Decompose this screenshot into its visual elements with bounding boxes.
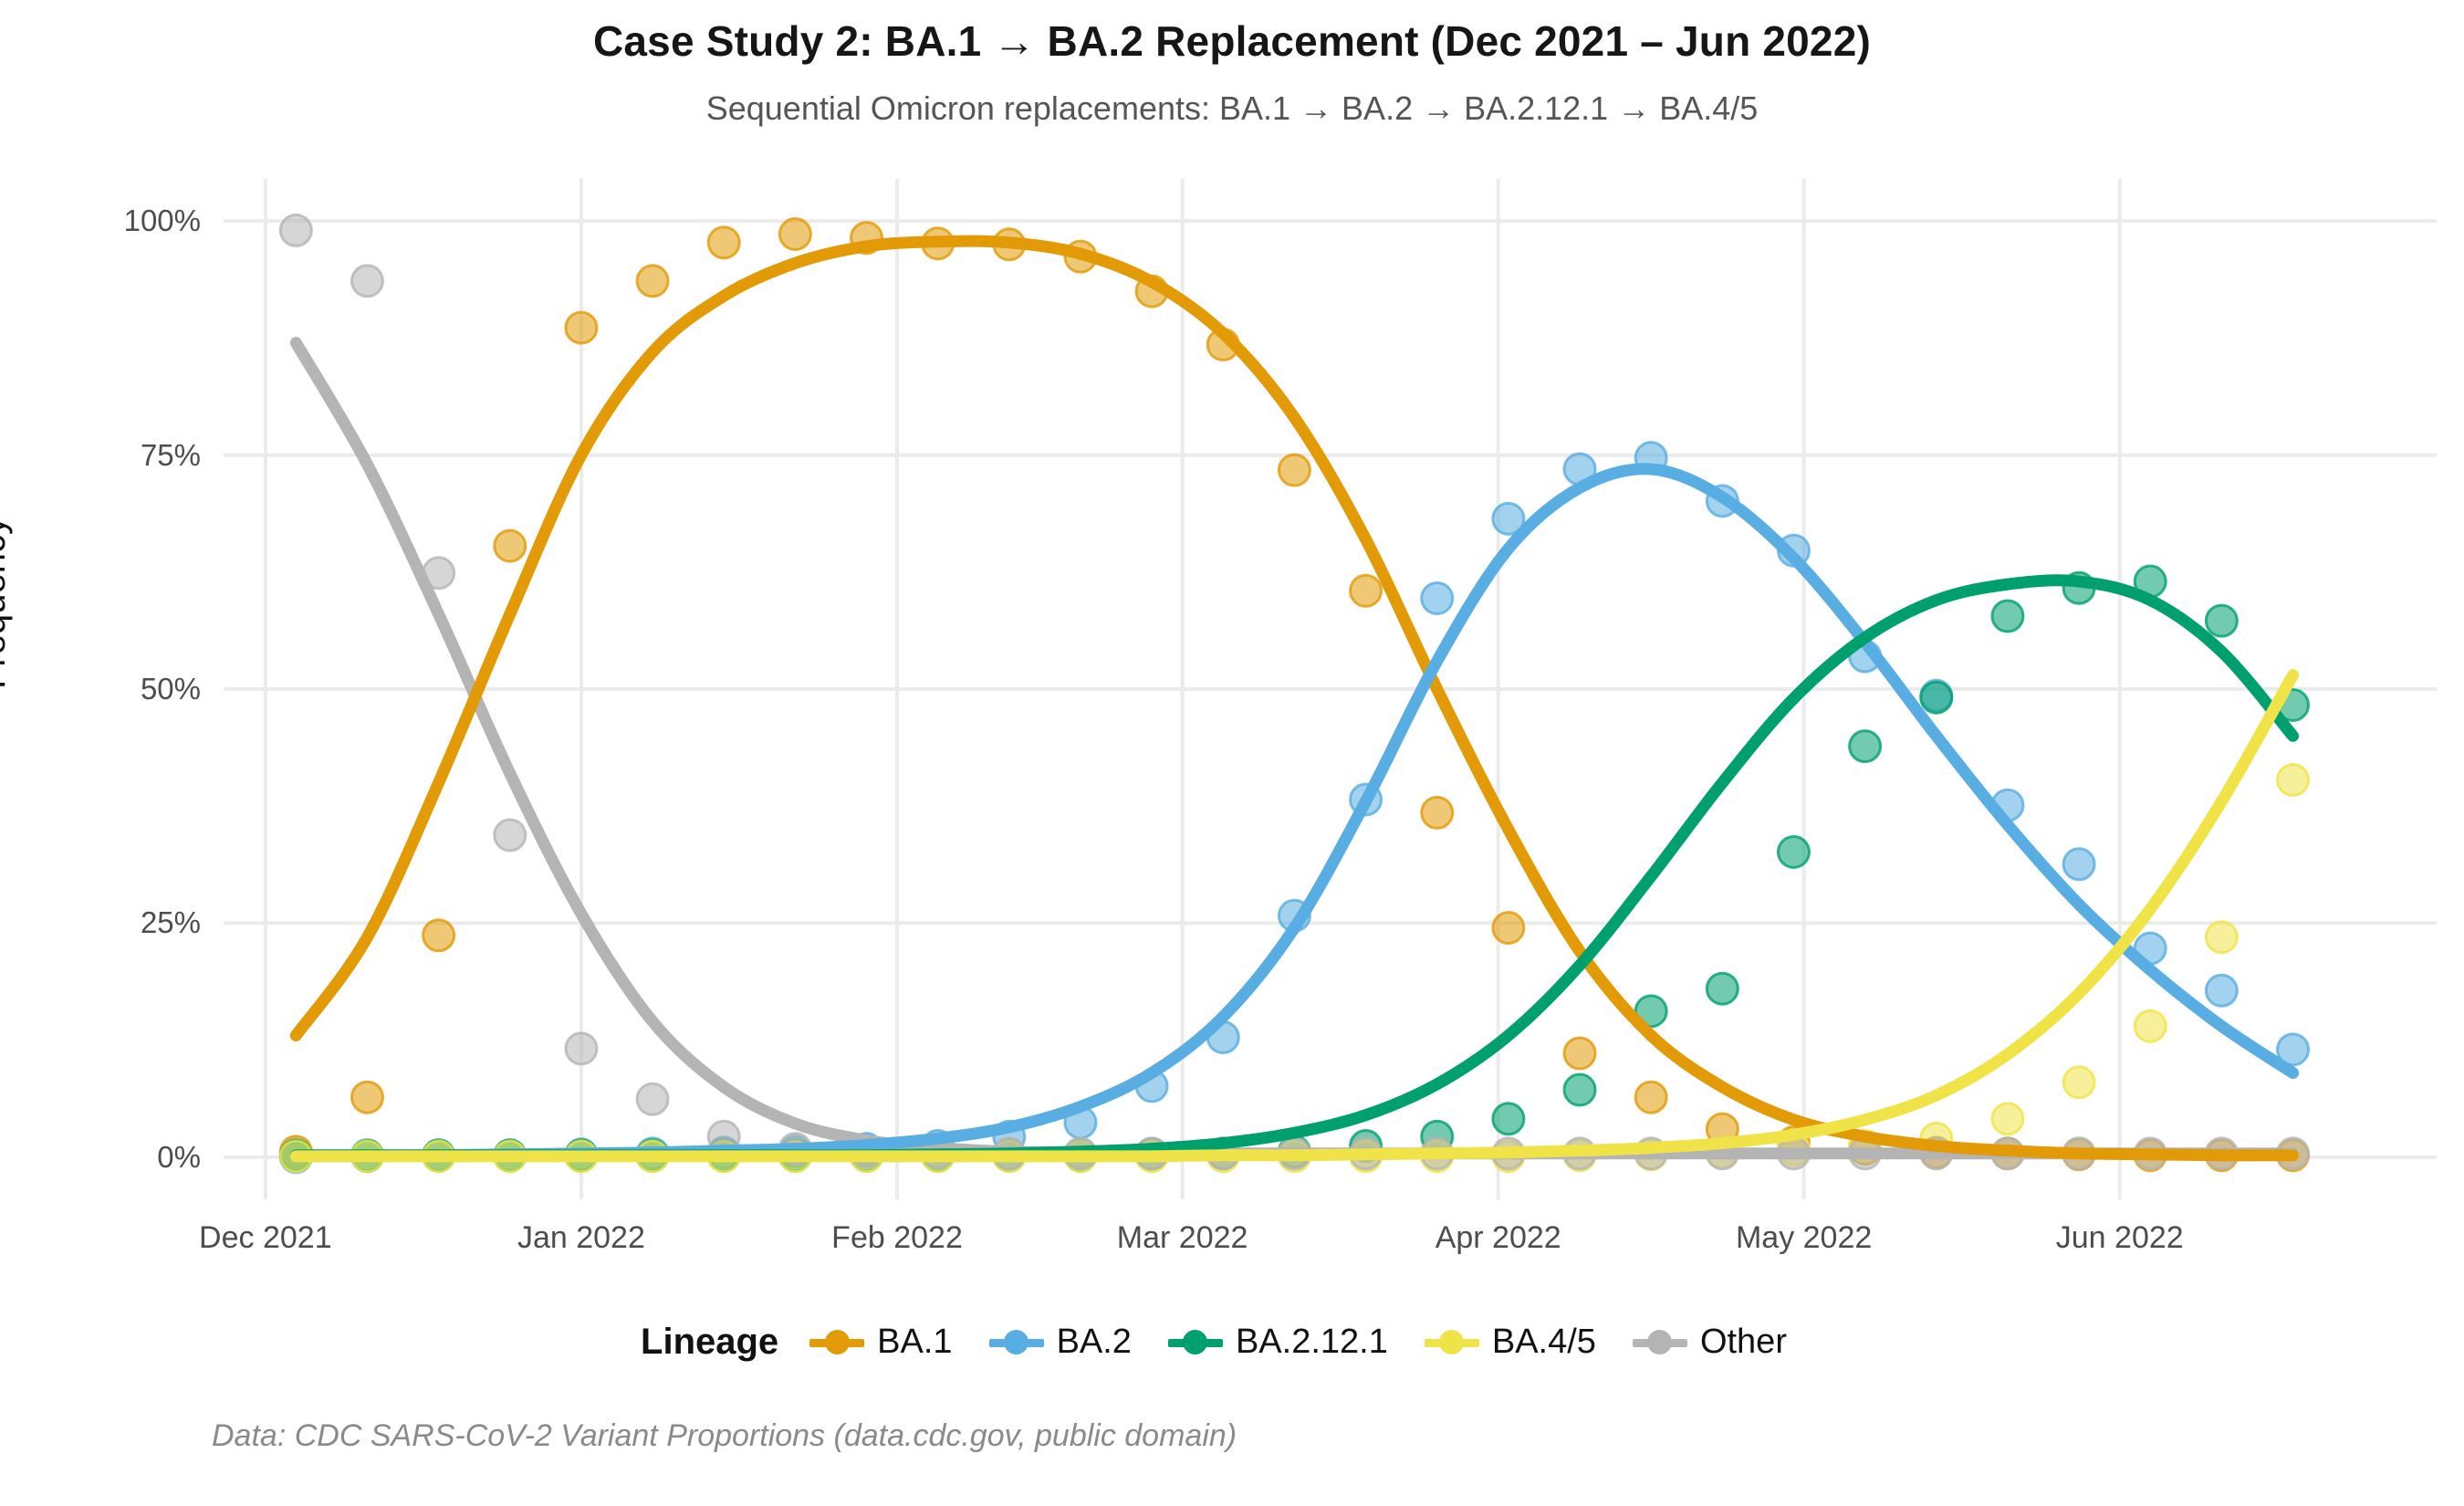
x-tick-label: Mar 2022	[1117, 1220, 1248, 1256]
legend-item-label: BA.2	[1057, 1323, 1132, 1362]
data-point	[566, 1033, 597, 1064]
y-axis-title: Frequency	[0, 517, 14, 689]
legend-item-label: BA.4/5	[1492, 1323, 1596, 1362]
legend-point-swatch	[1647, 1330, 1672, 1354]
data-point	[1493, 913, 1524, 944]
page-title: Case Study 2: BA.1 → BA.2 Replacement (D…	[0, 16, 2464, 66]
data-point	[566, 312, 597, 343]
legend-point-swatch	[1004, 1330, 1028, 1354]
legend-item-BA-2-12-1[interactable]: BA.2.12.1	[1168, 1323, 1388, 1362]
legend-item-label: BA.2.12.1	[1236, 1323, 1388, 1362]
data-point	[1707, 973, 1738, 1004]
legend-item-label: BA.1	[877, 1323, 952, 1362]
trend-lines	[296, 241, 2292, 1156]
data-point	[495, 530, 526, 561]
data-point	[2206, 922, 2237, 953]
legend-item-Other[interactable]: Other	[1633, 1323, 1787, 1362]
x-tick-label: Apr 2022	[1436, 1220, 1561, 1256]
chart-canvas	[224, 179, 2437, 1199]
data-point	[1493, 1103, 1524, 1135]
data-point	[1921, 682, 1952, 713]
gridlines	[224, 179, 2437, 1199]
data-point	[1778, 836, 1809, 867]
legend-key-icon	[1633, 1333, 1687, 1353]
legend-point-swatch	[1183, 1330, 1207, 1354]
chart-page: Case Study 2: BA.1 → BA.2 Replacement (D…	[0, 0, 2464, 1506]
plot-area	[224, 179, 2437, 1199]
x-tick-label: Jan 2022	[517, 1220, 645, 1256]
data-point	[708, 227, 739, 258]
y-tick-label: 25%	[55, 905, 201, 940]
data-point	[1564, 1038, 1595, 1069]
data-point	[2206, 975, 2237, 1006]
chart-legend: Lineage BA.1BA.2BA.2.12.1BA.4/5Other	[0, 1322, 2464, 1363]
x-tick-label: Feb 2022	[831, 1220, 963, 1256]
data-point	[423, 920, 454, 951]
legend-key-icon	[1168, 1333, 1223, 1353]
legend-point-swatch	[1439, 1330, 1464, 1354]
data-points	[280, 214, 2308, 1172]
legend-item-label: Other	[1700, 1323, 1787, 1362]
data-point	[2278, 764, 2309, 795]
data-point	[351, 1082, 382, 1113]
data-point	[1992, 1103, 2023, 1135]
legend-point-swatch	[825, 1330, 850, 1354]
legend-key-icon	[989, 1333, 1044, 1353]
data-point	[1422, 583, 1453, 614]
y-tick-label: 0%	[55, 1140, 201, 1175]
legend-item-BA-2[interactable]: BA.2	[989, 1323, 1132, 1362]
x-tick-label: Jun 2022	[2056, 1220, 2184, 1256]
legend-title: Lineage	[641, 1322, 778, 1363]
data-point	[1850, 731, 1881, 762]
data-point	[637, 1083, 668, 1114]
source-caption: Data: CDC SARS-CoV-2 Variant Proportions…	[212, 1418, 1237, 1454]
legend-item-BA-1[interactable]: BA.1	[809, 1323, 952, 1362]
data-point	[2135, 1010, 2166, 1041]
data-point	[2063, 1067, 2094, 1098]
legend-item-BA-4-5[interactable]: BA.4/5	[1425, 1323, 1596, 1362]
data-point	[280, 214, 311, 246]
y-tick-label: 100%	[55, 204, 201, 238]
legend-key-icon	[809, 1333, 864, 1353]
data-point	[779, 219, 810, 250]
data-point	[1422, 797, 1453, 828]
data-point	[1635, 1082, 1666, 1113]
y-tick-label: 50%	[55, 672, 201, 706]
trend-line-BA.1	[296, 241, 2292, 1156]
data-point	[637, 266, 668, 297]
page-subtitle: Sequential Omicron replacements: BA.1 → …	[0, 89, 2464, 128]
data-point	[2063, 849, 2094, 880]
data-point	[351, 266, 382, 297]
legend-key-icon	[1425, 1333, 1479, 1353]
data-point	[1279, 455, 1310, 486]
data-point	[2206, 605, 2237, 636]
x-tick-label: May 2022	[1736, 1220, 1872, 1256]
data-point	[1564, 1074, 1595, 1105]
x-tick-label: Dec 2021	[199, 1220, 332, 1256]
data-point	[1351, 575, 1382, 606]
data-point	[1992, 601, 2023, 632]
data-point	[495, 820, 526, 851]
y-tick-label: 75%	[55, 438, 201, 473]
